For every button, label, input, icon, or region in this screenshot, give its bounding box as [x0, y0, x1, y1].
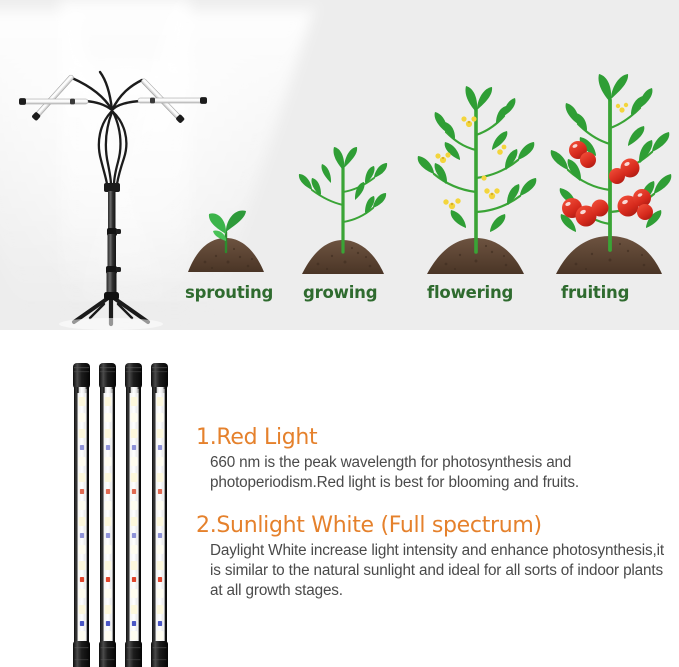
feature-red-light-title: 1.Red Light: [196, 426, 666, 450]
led-bar-3: [125, 363, 142, 667]
tomato-fruits: [562, 141, 653, 227]
stage-fruiting-art: [551, 74, 672, 274]
led-bar-1: [73, 363, 90, 667]
stage-sprouting-art: [188, 210, 264, 272]
feature-sunlight-white: 2.Sunlight White (Full spectrum) Dayligh…: [196, 514, 666, 601]
led-bar-4: [151, 363, 168, 667]
stage-label-growing: growing: [303, 283, 377, 302]
plant-growth-stages-illustration: [0, 0, 679, 330]
feature-sunlight-white-title: 2.Sunlight White (Full spectrum): [196, 514, 666, 538]
growth-stage-panel: sprouting growing flowering fruiting: [0, 0, 679, 330]
feature-red-light-body: 660 nm is the peak wavelength for photos…: [210, 453, 666, 493]
led-bar-2: [99, 363, 116, 667]
spectrum-feature-panel: 1.Red Light 660 nm is the peak wavelengt…: [0, 330, 679, 667]
feature-red-light: 1.Red Light 660 nm is the peak wavelengt…: [196, 426, 666, 493]
led-light-bars-illustration: [0, 330, 200, 667]
stage-flowering-art: [418, 86, 537, 274]
feature-text-block: 1.Red Light 660 nm is the peak wavelengt…: [196, 426, 666, 611]
stage-growing-art: [299, 147, 387, 274]
feature-sunlight-white-body: Daylight White increase light intensity …: [210, 541, 666, 601]
stage-label-flowering: flowering: [427, 283, 513, 302]
stage-label-sprouting: sprouting: [185, 283, 273, 302]
stage-label-fruiting: fruiting: [561, 283, 629, 302]
